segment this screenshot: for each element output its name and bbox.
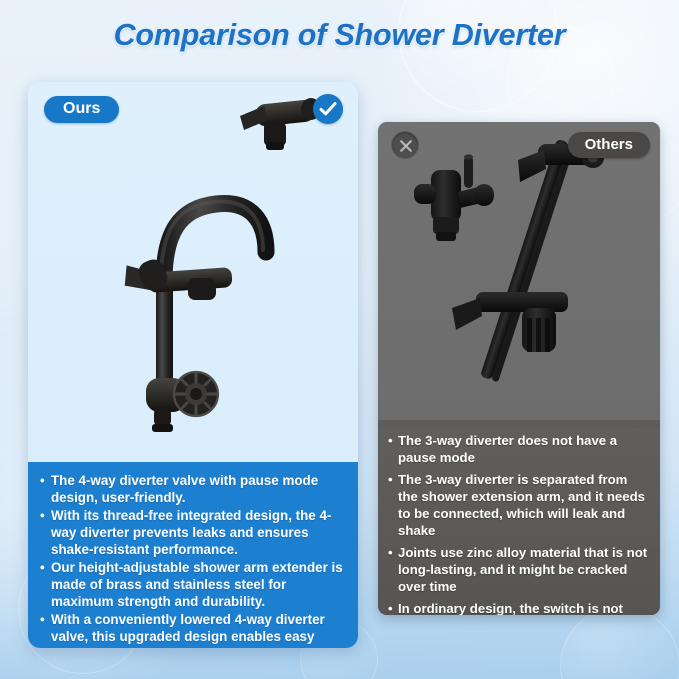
- three-way-diverter-part: [414, 154, 494, 241]
- x-circle-icon: [391, 131, 419, 159]
- shower-extension-arm-part: [452, 139, 604, 383]
- others-product-image: Others: [378, 122, 660, 420]
- ours-product-illustration: [28, 82, 358, 462]
- others-product-illustration: [378, 122, 660, 420]
- list-item: The 4-way diverter valve with pause mode…: [40, 472, 344, 506]
- others-bullet-list: The 3-way diverter does not have a pause…: [378, 428, 660, 615]
- ours-product-image: Ours: [28, 82, 358, 462]
- list-item: Our height-adjustable shower arm extende…: [40, 559, 344, 610]
- check-circle-icon: [313, 94, 343, 124]
- four-way-diverter-valve: [146, 372, 218, 432]
- others-badge: Others: [568, 132, 650, 158]
- ours-panel: Ours The 4-way diverter valve with pause…: [28, 82, 358, 648]
- page-title: Comparison of Shower Diverter: [0, 18, 679, 53]
- list-item: With a conveniently lowered 4-way divert…: [40, 611, 344, 648]
- shower-outlet: [240, 98, 321, 150]
- others-panel: Others The 3-way diverter does not have …: [378, 122, 660, 615]
- background-bubble: [560, 606, 679, 679]
- list-item: The 3-way diverter does not have a pause…: [388, 432, 648, 466]
- list-item: In ordinary design, the switch is not ea…: [388, 600, 648, 615]
- comparison-infographic: Comparison of Shower Diverter: [0, 0, 679, 679]
- ours-badge: Ours: [44, 96, 119, 123]
- list-item: The 3-way diverter is separated from the…: [388, 471, 648, 539]
- adjustable-clamp: [123, 256, 233, 300]
- list-item: With its thread-free integrated design, …: [40, 507, 344, 558]
- background-bubble: [398, 0, 558, 112]
- ours-bullet-list: The 4-way diverter valve with pause mode…: [28, 462, 358, 648]
- list-item: Joints use zinc alloy material that is n…: [388, 544, 648, 595]
